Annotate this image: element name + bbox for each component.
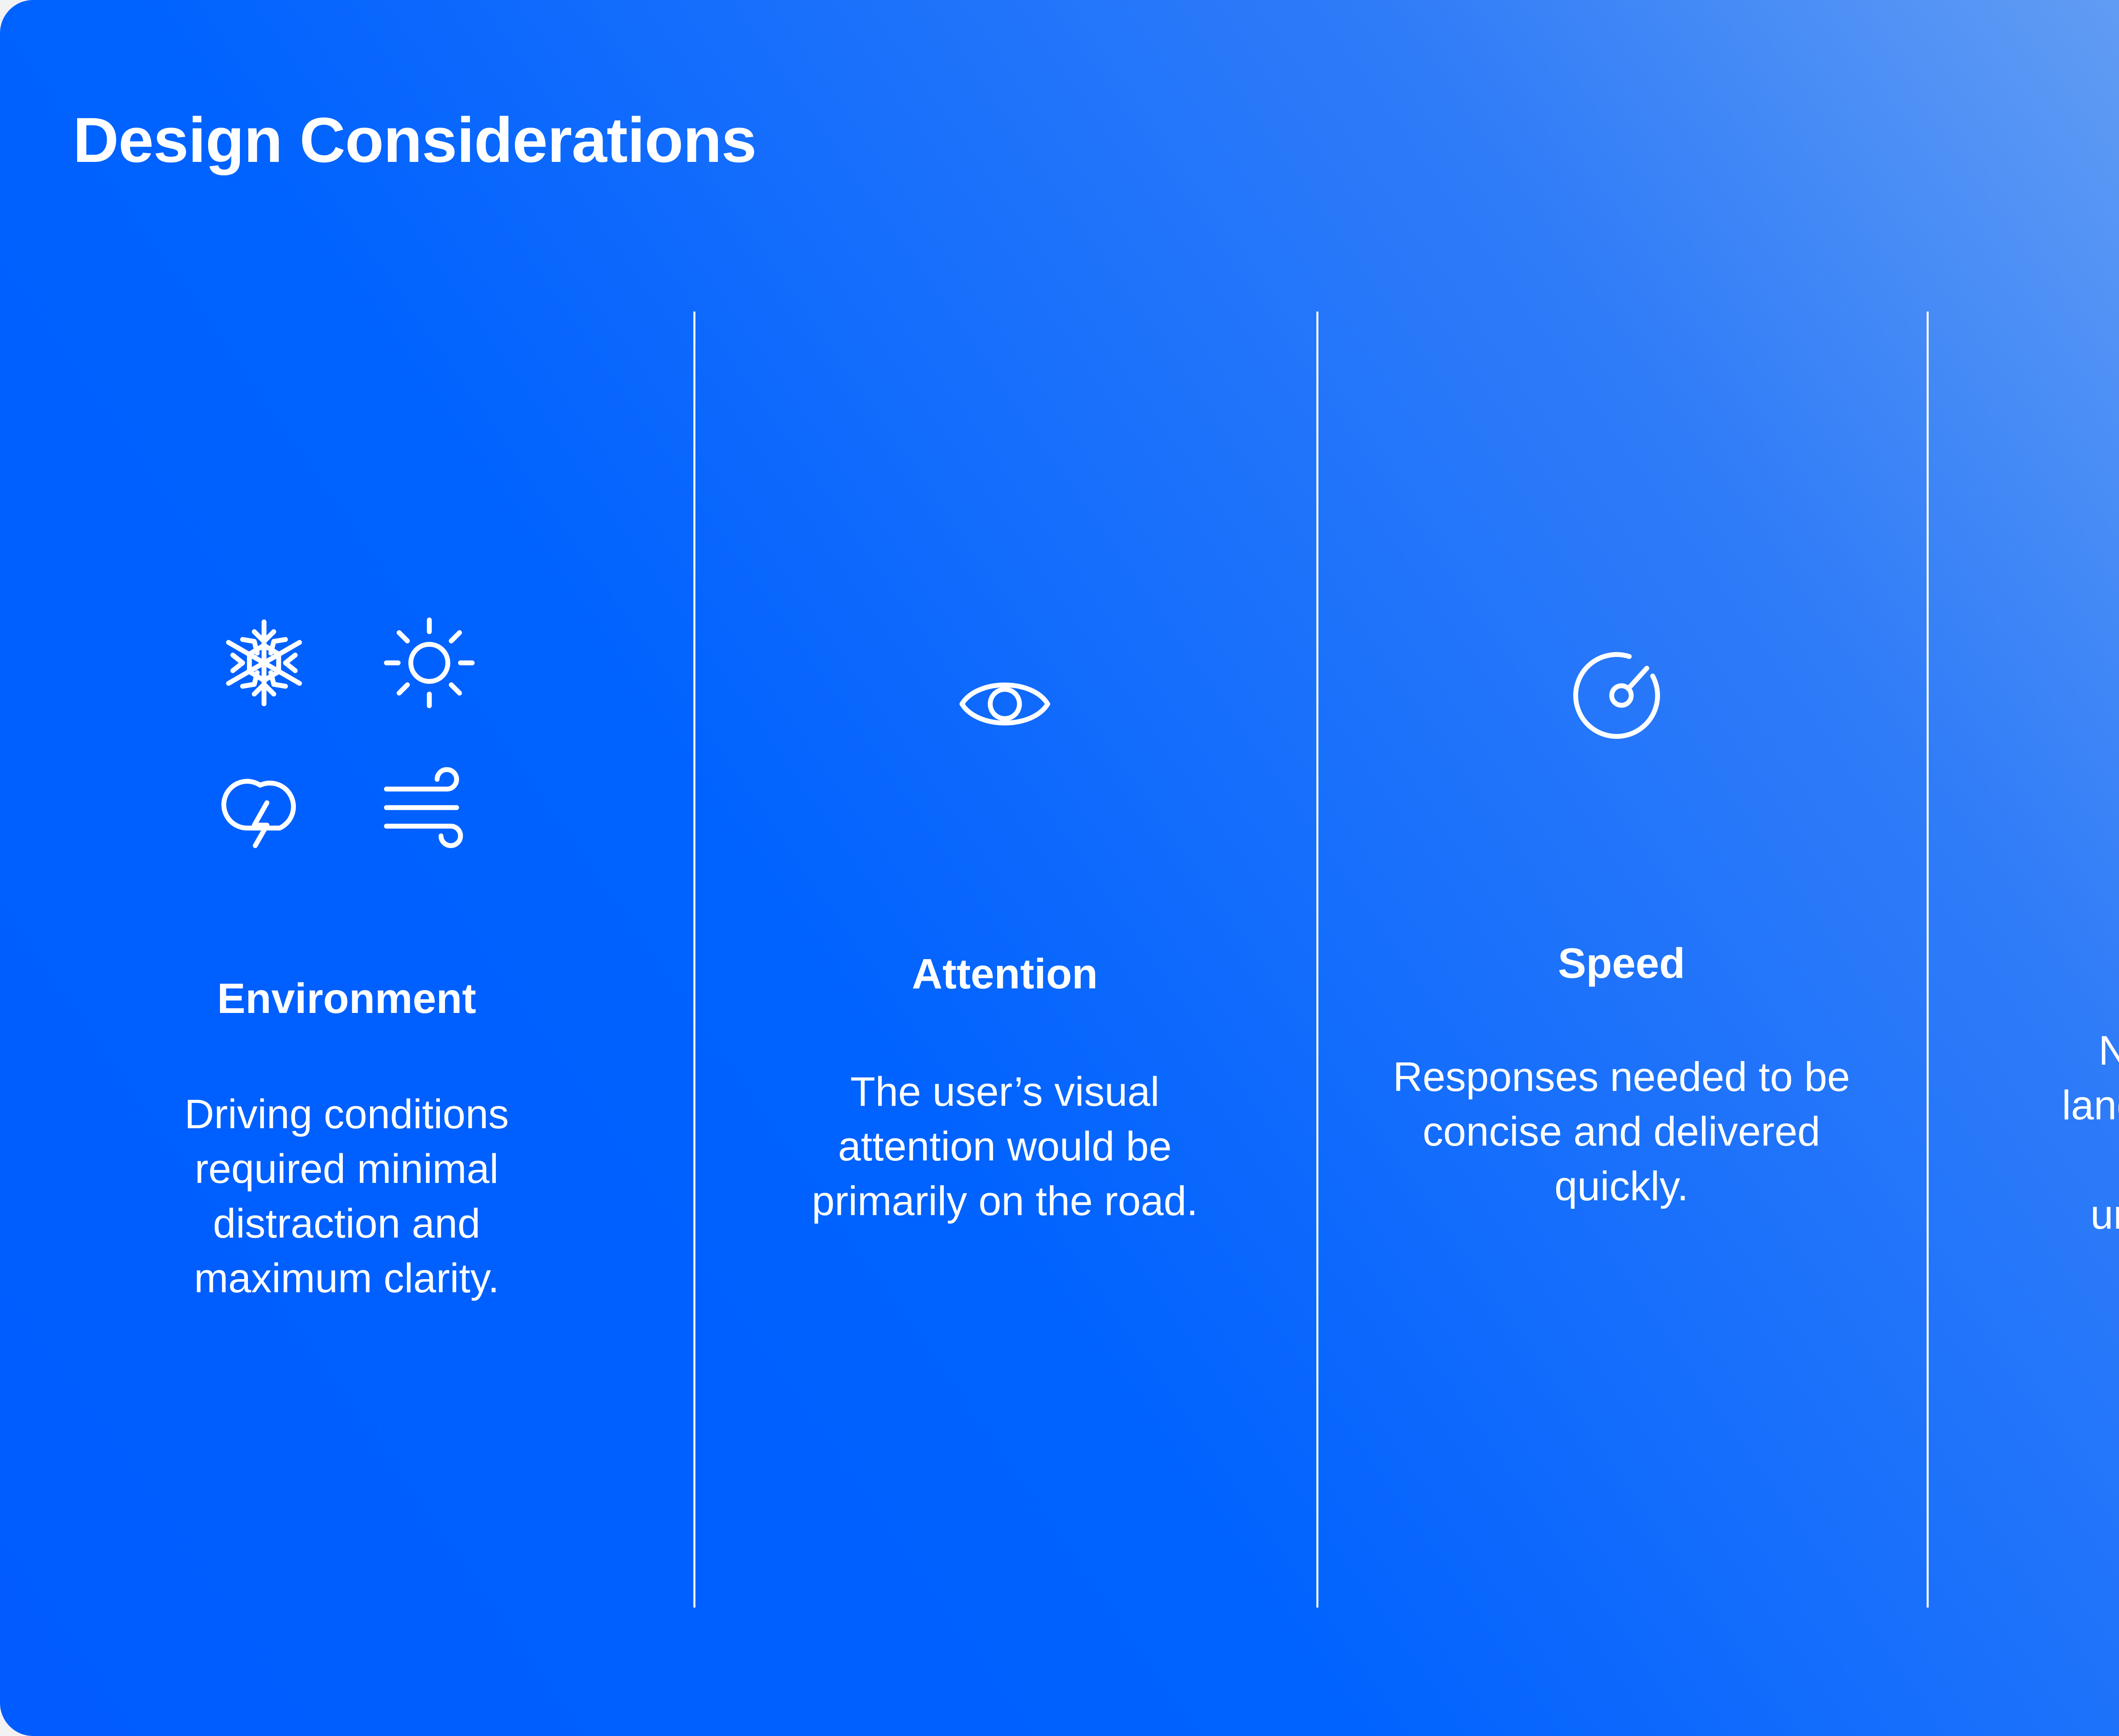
consideration-column-speed: Speed Responses needed to be concise and… [1316,312,1927,1608]
column-body-text: Responses needed to be concise and deliv… [1384,1049,1859,1213]
consideration-column-attention: Attention The user’s visual attention wo… [693,312,1316,1608]
eye-icon [956,655,1054,753]
considerations-columns: Environment Driving conditions required … [0,312,2119,1608]
column-heading: Environment [217,974,476,1023]
page-title: Design Considerations [73,108,756,172]
speed-icon-group [1333,647,1910,744]
attention-icon-group [710,655,1299,753]
column-heading: Attention [912,950,1098,999]
column-heading: Speed [1558,939,1685,988]
design-considerations-card: Design Considerations [0,0,2119,1736]
column-body-text: No ambiguity -- language had to be immed… [2011,1023,2119,1242]
gauge-icon [1573,647,1670,744]
environment-icon-group [207,614,487,851]
consideration-column-environment: Environment Driving conditions required … [0,312,693,1608]
column-divider [693,312,695,1608]
column-body-text: Driving conditions required minimal dist… [122,1087,571,1305]
column-body-text: The user’s visual attention would be pri… [780,1064,1229,1228]
column-divider [1927,312,1929,1608]
clarity-icon-group [1944,623,2119,720]
consideration-column-clarity: Clarity No ambiguity -- language had to … [1927,312,2119,1608]
snowflake-icon [215,614,313,712]
column-divider [1316,312,1318,1608]
wind-icon [381,754,478,851]
sun-icon [381,614,478,712]
cloud-lightning-icon [215,754,313,851]
